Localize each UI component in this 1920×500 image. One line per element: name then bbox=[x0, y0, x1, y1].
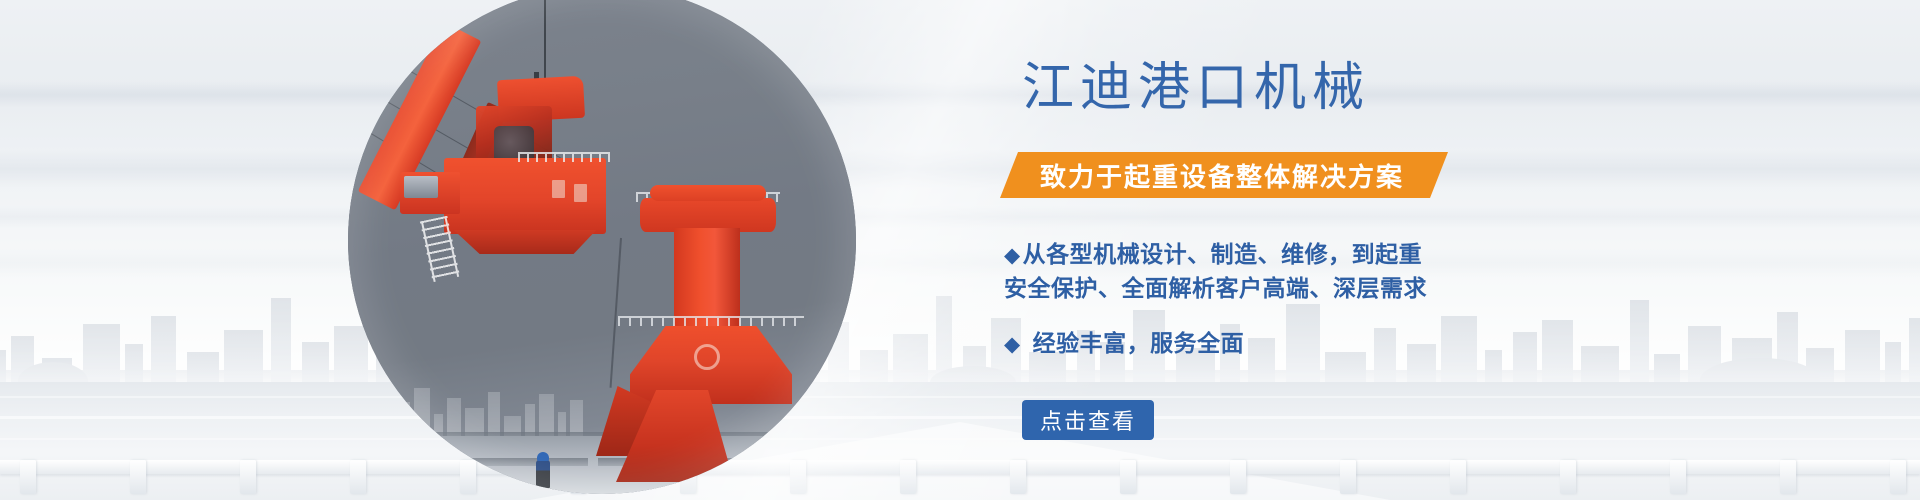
feature-line-text: 经验丰富，服务全面 bbox=[1033, 330, 1245, 356]
photo-distant-city bbox=[348, 366, 548, 436]
feature-line-text: 从各型机械设计、制造、维修，到起重 bbox=[1023, 241, 1423, 267]
crane-photo-circle bbox=[348, 0, 856, 494]
photo-skyline-building bbox=[539, 394, 554, 436]
banner-content: 江迪港口机械 致力于起重设备整体解决方案 ◆从各型机械设计、制造、维修，到起重 … bbox=[1000, 0, 1700, 500]
guardrail-post bbox=[130, 460, 146, 494]
skyline-building bbox=[83, 324, 120, 388]
skyline-building bbox=[224, 330, 263, 388]
crane-machine-house bbox=[444, 158, 606, 234]
guardrail-post bbox=[1890, 460, 1906, 494]
guardrail-post bbox=[240, 460, 256, 494]
photo-skyline-building bbox=[570, 400, 583, 436]
tower-crane-head bbox=[640, 198, 776, 232]
feature-item: ◆经验丰富，服务全面 bbox=[1004, 327, 1664, 361]
skyline-building bbox=[893, 334, 928, 388]
crane-hook-rope bbox=[544, 0, 546, 78]
feature-line-text: 安全保护、全面解析客户高端、深层需求 bbox=[1004, 275, 1427, 301]
diamond-bullet-icon: ◆ bbox=[1004, 244, 1021, 267]
feature-line: ◆经验丰富，服务全面 bbox=[1004, 327, 1664, 361]
diamond-bullet-icon: ◆ bbox=[1004, 333, 1021, 356]
photo-skyline-building bbox=[414, 388, 430, 436]
feature-line: ◆从各型机械设计、制造、维修，到起重 bbox=[1004, 238, 1664, 272]
photo-skyline-building bbox=[360, 396, 373, 436]
photo-skyline-building bbox=[447, 398, 461, 436]
guardrail-post bbox=[900, 460, 916, 494]
guardrail-post bbox=[1780, 460, 1796, 494]
cta-button[interactable]: 点击查看 bbox=[1022, 400, 1154, 440]
skyline-building bbox=[1909, 318, 1920, 388]
photo-barge bbox=[468, 458, 588, 466]
tagline-text: 致力于起重设备整体解决方案 bbox=[1040, 157, 1404, 194]
skyline-building bbox=[1845, 330, 1880, 388]
crane-cab-window bbox=[404, 176, 438, 198]
house-window bbox=[574, 184, 587, 202]
guardrail-post bbox=[20, 460, 36, 494]
feature-item: ◆从各型机械设计、制造、维修，到起重 安全保护、全面解析客户高端、深层需求 bbox=[1004, 238, 1664, 305]
feature-line: 安全保护、全面解析客户高端、深层需求 bbox=[1004, 272, 1664, 305]
skyline-building bbox=[151, 316, 176, 388]
tagline-ribbon: 致力于起重设备整体解决方案 bbox=[1000, 152, 1448, 198]
photo-worker bbox=[536, 460, 550, 488]
feature-list: ◆从各型机械设计、制造、维修，到起重 安全保护、全面解析客户高端、深层需求 ◆经… bbox=[1004, 238, 1664, 361]
crane-railing bbox=[518, 152, 610, 162]
crane-photo-content bbox=[348, 0, 856, 494]
photo-skyline-building bbox=[399, 402, 410, 436]
skyline-building bbox=[271, 298, 291, 388]
page-title: 江迪港口机械 bbox=[1022, 62, 1370, 114]
house-window bbox=[552, 180, 565, 198]
photo-skyline-building bbox=[488, 392, 500, 436]
tower-base-railing bbox=[618, 316, 804, 326]
tower-logo-icon bbox=[694, 344, 720, 370]
hero-banner: 江迪港口机械 致力于起重设备整体解决方案 ◆从各型机械设计、制造、维修，到起重 … bbox=[0, 0, 1920, 500]
